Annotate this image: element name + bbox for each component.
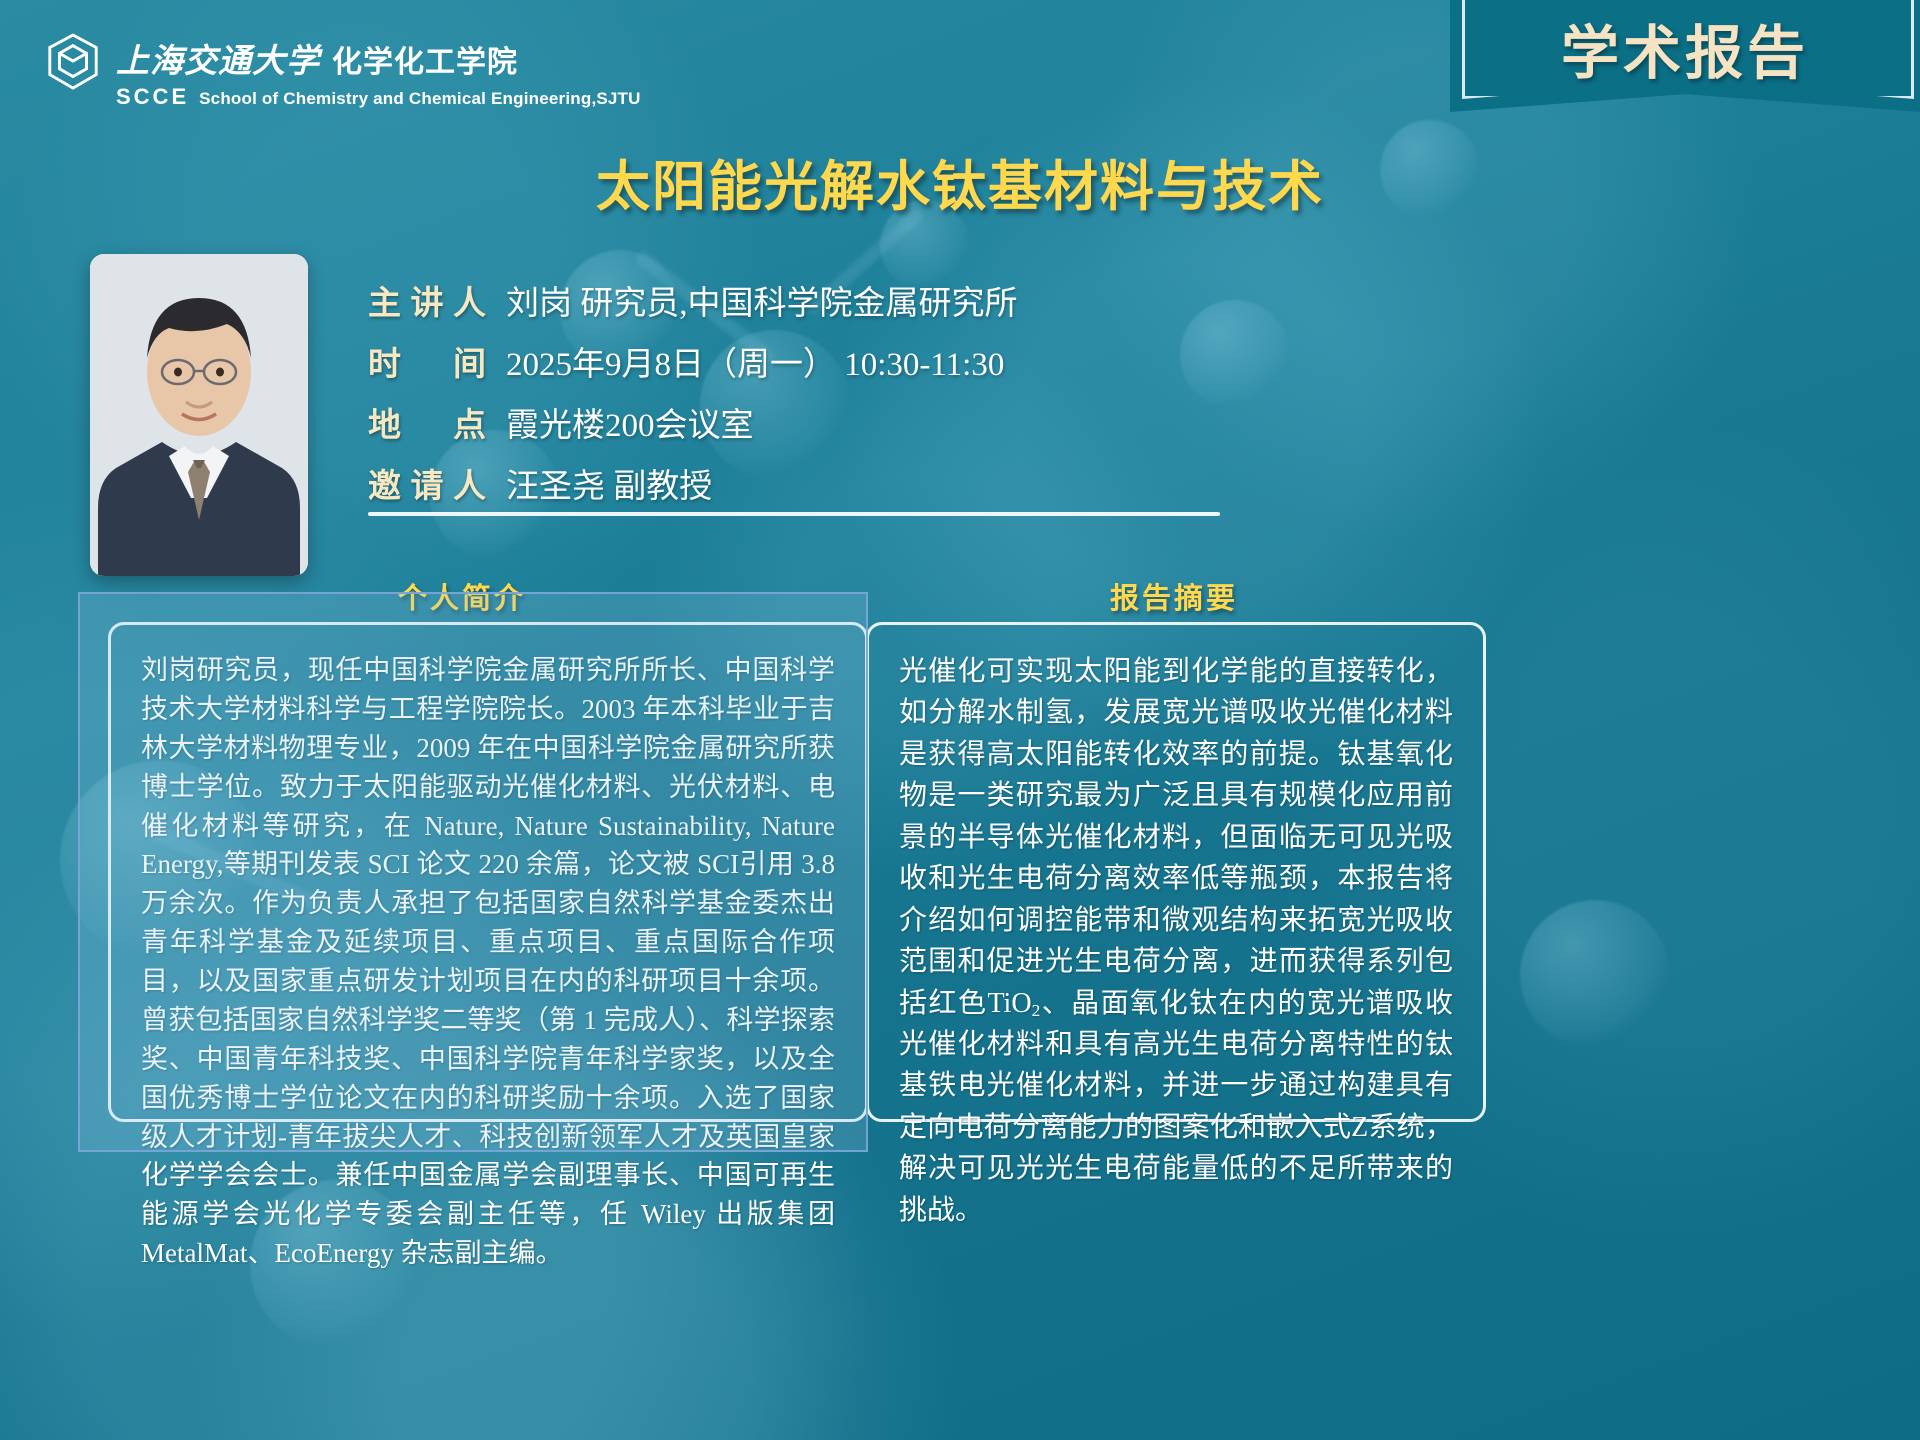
abstract-panel: 光催化可实现太阳能到化学能的直接转化，如分解水制氢，发展宽光谱吸收光催化材料是获… [866,622,1486,1122]
academic-lecture-ribbon: 学术报告 [1450,0,1920,112]
info-value-time: 2025年9月8日（周一） 10:30-11:30 [486,337,1004,385]
abstract-text: 光催化可实现太阳能到化学能的直接转化，如分解水制氢，发展宽光谱吸收光催化材料是获… [899,651,1453,1231]
molecule-blob [1520,900,1670,1050]
logo-text-block: 上海交通大学 化学化工学院 SCCE School of Chemistry a… [116,32,641,110]
info-label-speaker: 主讲人 [368,276,486,324]
abstract-subscript: 2 [1032,1000,1041,1019]
info-label-inviter: 邀请人 [368,459,486,507]
logo-university-name: 上海交通大学 [116,34,320,82]
info-value-inviter: 汪圣尧 副教授 [486,459,712,507]
info-divider [368,512,1220,516]
event-info-block: 主讲人 刘岗 研究员,中国科学院金属研究所 时间 2025年9月8日（周一） 1… [368,276,1268,520]
scce-hexagon-icon [44,32,102,94]
abstract-text-part1: 光催化可实现太阳能到化学能的直接转化，如分解水制氢，发展宽光谱吸收光催化材料是获… [899,656,1453,1019]
bio-panel: 刘岗研究员，现任中国科学院金属研究所所长、中国科学技术大学材料科学与工程学院院长… [108,622,868,1122]
page-title: 太阳能光解水钛基材料与技术 [0,142,1920,221]
info-row-speaker: 主讲人 刘岗 研究员,中国科学院金属研究所 [368,276,1268,324]
abstract-section-heading: 报告摘要 [1110,575,1238,617]
info-row-time: 时间 2025年9月8日（周一） 10:30-11:30 [368,337,1268,385]
info-value-location: 霞光楼200会议室 [486,398,754,446]
bio-section-heading: 个人简介 [398,575,526,617]
ribbon-label: 学术报告 [1450,0,1920,112]
speaker-photo [90,254,308,576]
seminar-poster: 上海交通大学 化学化工学院 SCCE School of Chemistry a… [0,0,1920,1440]
logo-abbreviation: SCCE [116,84,189,110]
info-label-time: 时间 [368,337,486,385]
info-row-location: 地点 霞光楼200会议室 [368,398,1268,446]
bio-text: 刘岗研究员，现任中国科学院金属研究所所长、中国科学技术大学材料科学与工程学院院长… [141,651,835,1273]
logo-english-name: School of Chemistry and Chemical Enginee… [199,89,641,109]
school-logo: 上海交通大学 化学化工学院 SCCE School of Chemistry a… [44,32,641,110]
info-value-speaker: 刘岗 研究员,中国科学院金属研究所 [486,276,1018,324]
logo-school-name: 化学化工学院 [332,37,518,81]
abstract-text-part2: 、晶面氧化钛在内的宽光谱吸收光催化材料和具有高光生电荷分离特性的钛基铁电光催化材… [899,988,1453,1226]
info-label-location: 地点 [368,398,486,446]
info-row-inviter: 邀请人 汪圣尧 副教授 [368,459,1268,507]
